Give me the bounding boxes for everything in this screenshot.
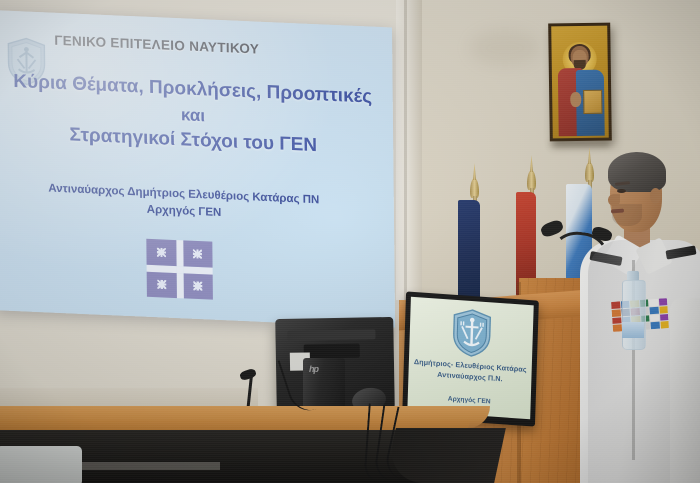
christ-pantocrator-icon bbox=[548, 23, 612, 142]
chair-back bbox=[0, 446, 82, 483]
hellenic-navy-shield-emblem bbox=[451, 308, 492, 359]
wall-column bbox=[396, 0, 422, 300]
slide-title: Κύρια Θέματα, Προκλήσεις, Προοπτικές και… bbox=[3, 68, 384, 163]
hp-brand-logo: hp bbox=[309, 364, 318, 374]
projection-screen: ΓΕΝΙΚΟ ΕΠΙΤΕΛΕΙΟ ΝΑΥΤΙΚΟΥ Κύρια Θέματα, … bbox=[0, 10, 395, 328]
officer-hair bbox=[608, 152, 666, 192]
water-bottle-label bbox=[622, 322, 644, 338]
photo-scene: ΓΕΝΙΚΟ ΕΠΙΤΕΛΕΙΟ ΝΑΥΤΙΚΟΥ Κύρια Θέματα, … bbox=[0, 0, 700, 483]
wall-smudge bbox=[470, 30, 540, 66]
podium-display-screen: Δημήτριος- Ελευθέριος Κατάρας Αντιναύαρχ… bbox=[407, 297, 533, 420]
officer-arm bbox=[670, 298, 700, 483]
slide-header-text: ΓΕΝΙΚΟ ΕΠΙΤΕΛΕΙΟ ΝΑΥΤΙΚΟΥ bbox=[54, 33, 344, 61]
icon-shadow bbox=[551, 141, 609, 147]
water-bottle bbox=[622, 280, 646, 350]
presentation-slide: ΓΕΝΙΚΟ ΕΠΙΤΕΛΕΙΟ ΝΑΥΤΙΚΟΥ Κύρια Θέματα, … bbox=[0, 10, 395, 328]
greek-cross-four-squares-flag bbox=[146, 239, 213, 300]
slide-speaker-credit: Αντιναύαρχος Δημήτριος Ελευθέριος Κατάρα… bbox=[4, 179, 364, 229]
podium-speaker-name: Δημήτριος- Ελευθέριος Κατάρας Αντιναύαρχ… bbox=[412, 357, 527, 387]
